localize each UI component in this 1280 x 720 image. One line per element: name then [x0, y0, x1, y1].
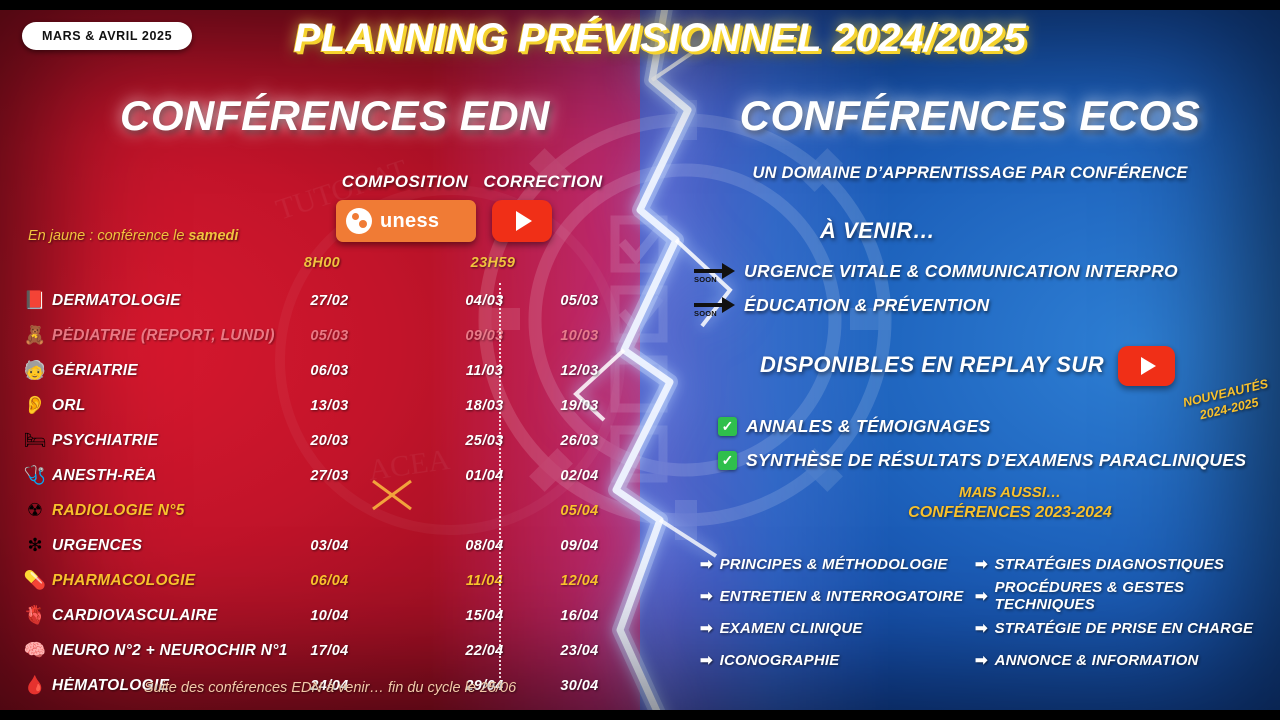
conference-name: CARDIOVASCULAIRE — [52, 607, 287, 625]
list-item-label: EXAMEN CLINIQUE — [720, 620, 863, 637]
conference-icon: ❇ — [18, 533, 52, 559]
table-row: 👂ORL13/0318/0319/03 — [18, 388, 618, 423]
list-item-label: PROCÉDURES & GESTES TECHNIQUES — [995, 579, 1280, 613]
youtube-icon[interactable] — [1118, 346, 1175, 386]
date-composition: 20/03 — [291, 433, 368, 449]
conference-icon: 🫀 — [18, 603, 52, 629]
domain-list-left: ➡PRINCIPES & MÉTHODOLOGIE➡ENTRETIEN & IN… — [700, 548, 963, 676]
table-row: ☢RADIOLOGIE N°505/04 — [18, 493, 618, 528]
arrow-soon-icon: SOON — [694, 258, 736, 284]
list-item: ➡PROCÉDURES & GESTES TECHNIQUES — [975, 580, 1280, 612]
conferences-2023-2024-label: CONFÉRENCES 2023-2024 — [760, 504, 1260, 522]
time-composition: 8H00 — [277, 255, 367, 271]
list-item: ➡ENTRETIEN & INTERROGATOIRE — [700, 580, 963, 612]
date-replay: 19/03 — [541, 398, 618, 414]
date-correction: 04/03 — [446, 293, 523, 309]
arrow-right-icon: ➡ — [700, 619, 713, 637]
letterbox-bottom — [0, 710, 1280, 720]
table-row: 🛏PSYCHIATRIE20/0325/0326/03 — [18, 423, 618, 458]
uness-label: uness — [380, 210, 439, 233]
time-correction: 23H59 — [448, 255, 538, 271]
soon-label: SOON — [694, 309, 717, 318]
date-replay: 05/04 — [541, 503, 618, 519]
edn-schedule-table: 📕DERMATOLOGIE27/0204/0305/03🧸PÉDIATRIE (… — [18, 283, 618, 703]
arrow-right-icon: ➡ — [975, 651, 988, 669]
replay-heading: DISPONIBLES EN REPLAY SUR — [760, 352, 1104, 378]
footer-note: Suite des conférences EDN à venir… fin d… — [40, 680, 620, 696]
list-item: ➡ICONOGRAPHIE — [700, 644, 963, 676]
arrow-right-icon: ➡ — [700, 587, 713, 605]
conference-name: NEURO N°2 + NEUROCHIR N°1 — [52, 642, 287, 660]
list-item-label: ICONOGRAPHIE — [720, 652, 840, 669]
date-replay: 09/04 — [541, 538, 618, 554]
conference-name: GÉRIATRIE — [52, 362, 287, 380]
available-item-label: ANNALES & TÉMOIGNAGES — [746, 416, 991, 437]
arrow-right-icon: ➡ — [975, 587, 988, 605]
available-item-label: SYNTHÈSE DE RÉSULTATS D’EXAMENS PARACLIN… — [746, 450, 1246, 471]
date-correction: 01/04 — [446, 468, 523, 484]
conference-name: RADIOLOGIE N°5 — [52, 502, 287, 520]
letterbox-top — [0, 0, 1280, 10]
date-badge: MARS & AVRIL 2025 — [22, 22, 192, 50]
conference-icon: 💊 — [18, 568, 52, 594]
upcoming-item-label: ÉDUCATION & PRÉVENTION — [744, 295, 989, 316]
conference-name: PHARMACOLOGIE — [52, 572, 287, 590]
date-replay: 16/04 — [541, 608, 618, 624]
uness-logo-button[interactable]: uness — [336, 200, 476, 242]
table-row: 🧸PÉDIATRIE (REPORT, LUNDI)05/0309/0310/0… — [18, 318, 618, 353]
date-replay: 05/03 — [541, 293, 618, 309]
conference-name: ORL — [52, 397, 287, 415]
conference-icon: 🧠 — [18, 638, 52, 664]
table-row: 🧓GÉRIATRIE06/0311/0312/03 — [18, 353, 618, 388]
date-correction: 15/04 — [446, 608, 523, 624]
list-item-label: STRATÉGIE DE PRISE EN CHARGE — [995, 620, 1254, 637]
conference-icon: 🧸 — [18, 323, 52, 349]
table-row: ❇URGENCES03/0408/0409/04 — [18, 528, 618, 563]
right-heading: CONFÉRENCES ECOS — [690, 92, 1250, 140]
page-title: PLANNING PRÉVISIONNEL 2024/2025 — [230, 16, 1090, 61]
date-correction: 11/04 — [446, 573, 523, 589]
date-correction: 08/04 — [446, 538, 523, 554]
conference-name: ANESTH-RÉA — [52, 467, 287, 485]
check-icon: ✓ — [718, 451, 737, 470]
list-item-label: ENTRETIEN & INTERROGATOIRE — [720, 588, 964, 605]
domain-list-right: ➡STRATÉGIES DIAGNOSTIQUES➡PROCÉDURES & G… — [975, 548, 1280, 676]
cancelled-cross-icon — [370, 478, 414, 512]
date-correction: 09/03 — [446, 328, 523, 344]
conference-icon: 🩺 — [18, 463, 52, 489]
upcoming-item-label: URGENCE VITALE & COMMUNICATION INTERPRO — [744, 261, 1178, 282]
date-replay: 23/04 — [541, 643, 618, 659]
conference-icon: 👂 — [18, 393, 52, 419]
date-composition: 05/03 — [291, 328, 368, 344]
conference-name: URGENCES — [52, 537, 287, 555]
poster-canvas: TUTORAT ACEA MARS & AVRIL 2025 PLANNING … — [0, 0, 1280, 720]
check-icon: ✓ — [718, 417, 737, 436]
date-composition: 27/03 — [291, 468, 368, 484]
list-item: ➡STRATÉGIE DE PRISE EN CHARGE — [975, 612, 1280, 644]
date-correction: 18/03 — [446, 398, 523, 414]
legend-note: En jaune : conférence le samedi — [28, 228, 238, 244]
date-replay: 10/03 — [541, 328, 618, 344]
list-item-label: STRATÉGIES DIAGNOSTIQUES — [995, 556, 1225, 573]
date-correction: 25/03 — [446, 433, 523, 449]
list-item: ➡EXAMEN CLINIQUE — [700, 612, 963, 644]
youtube-icon[interactable] — [492, 200, 552, 242]
table-row: 🩺ANESTH-RÉA27/0301/0402/04 — [18, 458, 618, 493]
arrow-soon-icon: SOON — [694, 292, 736, 318]
table-row: 📕DERMATOLOGIE27/0204/0305/03 — [18, 283, 618, 318]
conference-icon: 📕 — [18, 288, 52, 314]
arrow-right-icon: ➡ — [700, 651, 713, 669]
conference-icon: ☢ — [18, 498, 52, 524]
list-item-label: ANNONCE & INFORMATION — [995, 652, 1199, 669]
arrow-right-icon: ➡ — [700, 555, 713, 573]
table-row: 🫀CARDIOVASCULAIRE10/0415/0416/04 — [18, 598, 618, 633]
uness-mark-icon — [346, 208, 372, 234]
legend-note-bold: samedi — [188, 228, 238, 244]
conference-name: PSYCHIATRIE — [52, 432, 287, 450]
date-replay: 12/04 — [541, 573, 618, 589]
list-item: ➡PRINCIPES & MÉTHODOLOGIE — [700, 548, 963, 580]
arrow-right-icon: ➡ — [975, 619, 988, 637]
date-composition: 27/02 — [291, 293, 368, 309]
list-item: ➡STRATÉGIES DIAGNOSTIQUES — [975, 548, 1280, 580]
conference-icon: 🧓 — [18, 358, 52, 384]
date-composition: 17/04 — [291, 643, 368, 659]
column-header-correction: CORRECTION — [463, 172, 623, 192]
conference-icon: 🛏 — [18, 428, 52, 454]
list-item-label: PRINCIPES & MÉTHODOLOGIE — [720, 556, 948, 573]
upcoming-heading: À VENIR… — [820, 218, 935, 244]
vertical-dotted-divider — [499, 283, 501, 678]
table-row: 🧠NEURO N°2 + NEUROCHIR N°117/0422/0423/0… — [18, 633, 618, 668]
arrow-right-icon: ➡ — [975, 555, 988, 573]
mais-aussi-label: MAIS AUSSI… — [760, 484, 1260, 501]
date-composition: 06/03 — [291, 363, 368, 379]
soon-label: SOON — [694, 275, 717, 284]
upcoming-item-1: SOON URGENCE VITALE & COMMUNICATION INTE… — [694, 258, 1178, 284]
right-subheading: UN DOMAINE D’APPRENTISSAGE PAR CONFÉRENC… — [690, 164, 1250, 183]
column-header-composition: COMPOSITION — [330, 172, 480, 192]
table-row: 💊PHARMACOLOGIE06/0411/0412/04 — [18, 563, 618, 598]
date-composition: 03/04 — [291, 538, 368, 554]
date-correction: 22/04 — [446, 643, 523, 659]
date-composition: 06/04 — [291, 573, 368, 589]
conference-name: PÉDIATRIE (REPORT, LUNDI) — [52, 327, 287, 345]
date-replay: 12/03 — [541, 363, 618, 379]
date-composition: 13/03 — [291, 398, 368, 414]
date-replay: 02/04 — [541, 468, 618, 484]
date-correction: 11/03 — [446, 363, 523, 379]
date-replay: 26/03 — [541, 433, 618, 449]
list-item: ➡ANNONCE & INFORMATION — [975, 644, 1280, 676]
conference-name: DERMATOLOGIE — [52, 292, 287, 310]
left-heading: CONFÉRENCES EDN — [55, 92, 615, 140]
legend-note-prefix: En jaune : conférence le — [28, 228, 188, 244]
available-item-1: ✓ ANNALES & TÉMOIGNAGES — [718, 416, 991, 437]
date-composition: 10/04 — [291, 608, 368, 624]
available-item-2: ✓ SYNTHÈSE DE RÉSULTATS D’EXAMENS PARACL… — [718, 450, 1246, 471]
upcoming-item-2: SOON ÉDUCATION & PRÉVENTION — [694, 292, 989, 318]
